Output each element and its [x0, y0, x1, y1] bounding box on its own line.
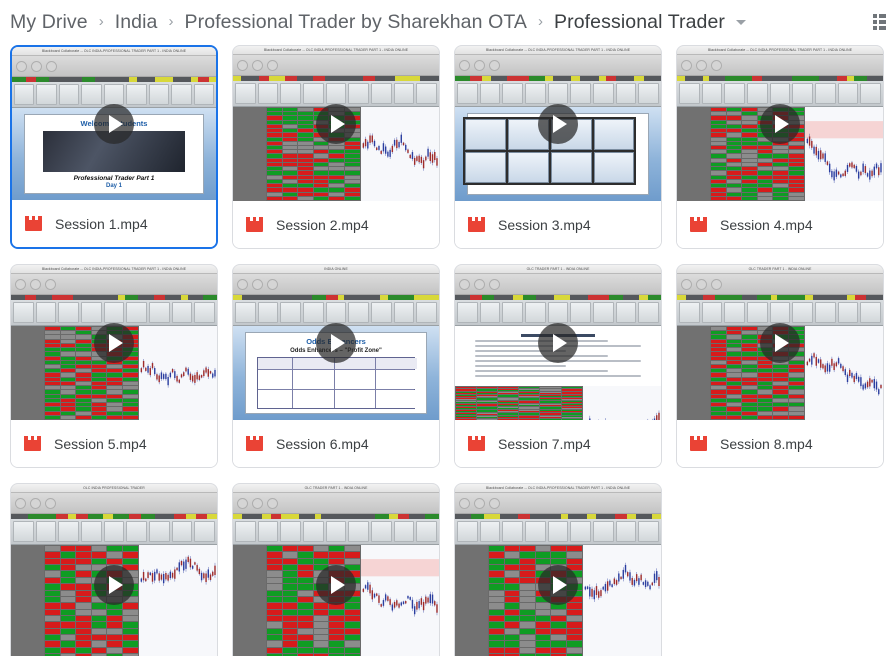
file-card-footer: Session 1.mp4	[12, 200, 216, 247]
thumbnail-toolbar	[677, 274, 883, 295]
thumbnail-toolbar	[455, 274, 661, 295]
file-thumbnail[interactable]: OLC TRADER PART 1 - INDIA ONLINE	[455, 265, 661, 420]
thumbnail-window-title: OLC INDIA PROFESSIONAL TRADER	[11, 484, 217, 493]
thumbnail-toolbar	[11, 274, 217, 295]
file-card[interactable]: INDIA ONLINEOdds EnhancersOdds Enhancers…	[232, 264, 440, 468]
chart-pane	[805, 107, 883, 201]
grid-view-icon[interactable]	[868, 11, 886, 33]
symbol-list-pane	[455, 545, 488, 656]
breadcrumb: My Drive›India›Professional Trader by Sh…	[10, 11, 886, 34]
thumbnail-toolbar	[455, 493, 661, 514]
breadcrumb-item[interactable]: Professional Trader	[554, 11, 725, 34]
file-thumbnail[interactable]: OLC TRADER PART 1 - INDIA ONLINE	[233, 484, 439, 656]
play-button[interactable]	[94, 565, 134, 605]
file-card[interactable]: Blackboard Collaborate -- OLC INDIA-PROF…	[10, 45, 218, 249]
symbol-list-pane	[233, 107, 266, 201]
file-card[interactable]: Blackboard Collaborate -- OLC INDIA-PROF…	[454, 45, 662, 249]
play-button[interactable]	[760, 104, 800, 144]
candlestick-chart	[583, 545, 661, 623]
file-name: Session 4.mp4	[720, 217, 813, 233]
file-name: Session 6.mp4	[276, 436, 369, 452]
odds-table	[257, 357, 415, 409]
slide-day: Day 1	[106, 183, 122, 189]
chart-pane	[805, 326, 883, 420]
file-card-footer: Session 7.mp4	[455, 420, 661, 467]
thumbnail-toolbar	[12, 56, 216, 77]
play-button[interactable]	[316, 104, 356, 144]
chart-pane	[583, 545, 661, 656]
file-card-footer: Session 5.mp4	[11, 420, 217, 467]
file-grid: Blackboard Collaborate -- OLC INDIA-PROF…	[0, 45, 886, 656]
thumbnail-toolbar	[233, 493, 439, 514]
video-file-icon	[690, 217, 707, 232]
play-button[interactable]	[316, 565, 356, 605]
candlestick-chart	[805, 107, 883, 185]
file-card-footer: Session 4.mp4	[677, 201, 883, 248]
play-button[interactable]	[538, 323, 578, 363]
file-card[interactable]: Blackboard Collaborate -- OLC INDIA-PROF…	[10, 264, 218, 468]
thumbnail-window-title: OLC TRADER PART 1 - INDIA ONLINE	[233, 484, 439, 493]
candlestick-chart	[361, 545, 439, 623]
file-card[interactable]: OLC TRADER PART 1 - INDIA ONLINESession …	[454, 264, 662, 468]
file-thumbnail[interactable]: Blackboard Collaborate -- OLC INDIA-PROF…	[12, 47, 216, 200]
symbol-list-pane	[233, 545, 266, 656]
thumbnail-window-title: OLC TRADER PART 1 - INDIA ONLINE	[455, 265, 661, 274]
breadcrumb-item[interactable]: My Drive	[10, 11, 88, 34]
thumbnail-window-title: Blackboard Collaborate -- OLC INDIA-PROF…	[233, 46, 439, 55]
file-thumbnail[interactable]: OLC INDIA PROFESSIONAL TRADER	[11, 484, 217, 656]
thumbnail-window-title: Blackboard Collaborate -- OLC INDIA-PROF…	[11, 265, 217, 274]
thumbnail-toolbar	[455, 55, 661, 76]
symbol-list-pane	[677, 107, 710, 201]
drive-header: My Drive›India›Professional Trader by Sh…	[0, 0, 886, 45]
file-name: Session 3.mp4	[498, 217, 591, 233]
file-thumbnail[interactable]: Blackboard Collaborate -- OLC INDIA-PROF…	[11, 265, 217, 420]
breadcrumb-separator: ›	[169, 14, 174, 29]
chart-pane	[139, 545, 217, 656]
thumbnail-toolbar	[233, 55, 439, 76]
market-data-grid	[455, 386, 583, 420]
file-thumbnail[interactable]: INDIA ONLINEOdds EnhancersOdds Enhancers…	[233, 265, 439, 420]
file-card[interactable]: Blackboard Collaborate -- OLC INDIA-PROF…	[232, 45, 440, 249]
candlestick-chart	[583, 386, 661, 420]
thumbnail-toolbar	[11, 493, 217, 514]
breadcrumb-separator: ›	[538, 14, 543, 29]
video-file-icon	[468, 217, 485, 232]
file-name: Session 1.mp4	[55, 216, 148, 232]
video-file-icon	[24, 436, 41, 451]
thumbnail-toolbar	[677, 55, 883, 76]
file-card[interactable]: OLC INDIA PROFESSIONAL TRADER	[10, 483, 218, 656]
file-name: Session 5.mp4	[54, 436, 147, 452]
video-file-icon	[468, 436, 485, 451]
breadcrumb-separator: ›	[99, 14, 104, 29]
chevron-down-icon[interactable]	[736, 20, 746, 25]
play-button[interactable]	[538, 104, 578, 144]
play-button[interactable]	[316, 323, 356, 363]
breadcrumb-item[interactable]: Professional Trader by Sharekhan OTA	[185, 11, 528, 34]
chart-pane	[361, 545, 439, 656]
video-file-icon	[246, 436, 263, 451]
thumbnail-ribbon	[11, 519, 217, 545]
candlestick-chart	[139, 326, 217, 404]
symbol-list-pane	[11, 545, 44, 656]
video-file-icon	[25, 216, 42, 231]
thumbnail-window-title: INDIA ONLINE	[233, 265, 439, 274]
chart-pane	[139, 326, 217, 420]
symbol-list-pane	[677, 326, 710, 420]
market-strip	[455, 386, 661, 420]
thumbnail-window-title: Blackboard Collaborate -- OLC INDIA-PROF…	[12, 47, 216, 56]
file-card[interactable]: Blackboard Collaborate -- OLC INDIA-PROF…	[676, 45, 884, 249]
video-file-icon	[246, 217, 263, 232]
file-card-footer: Session 3.mp4	[455, 201, 661, 248]
thumbnail-window-title: OLC TRADER PART 1 - INDIA ONLINE	[677, 265, 883, 274]
play-button[interactable]	[538, 565, 578, 605]
candlestick-chart	[361, 107, 439, 185]
file-thumbnail[interactable]: OLC TRADER PART 1 - INDIA ONLINE	[677, 265, 883, 420]
play-button[interactable]	[94, 104, 134, 144]
play-button[interactable]	[760, 323, 800, 363]
chart-pane	[361, 107, 439, 201]
file-card-footer: Session 6.mp4	[233, 420, 439, 467]
breadcrumb-item[interactable]: India	[115, 11, 158, 34]
file-card-footer: Session 2.mp4	[233, 201, 439, 248]
file-card[interactable]: OLC TRADER PART 1 - INDIA ONLINESession …	[676, 264, 884, 468]
file-card[interactable]: Blackboard Collaborate -- OLC INDIA-PROF…	[454, 483, 662, 656]
slide-caption: Professional Trader Part 1	[74, 175, 155, 182]
thumbnail-window-title: Blackboard Collaborate -- OLC INDIA-PROF…	[455, 46, 661, 55]
symbol-list-pane	[11, 326, 44, 420]
thumbnail-ribbon	[233, 519, 439, 545]
file-thumbnail[interactable]: Blackboard Collaborate -- OLC INDIA-PROF…	[455, 484, 661, 656]
file-card[interactable]: OLC TRADER PART 1 - INDIA ONLINE	[232, 483, 440, 656]
file-thumbnail[interactable]: Blackboard Collaborate -- OLC INDIA-PROF…	[233, 46, 439, 201]
thumbnail-window-title: Blackboard Collaborate -- OLC INDIA-PROF…	[455, 484, 661, 493]
thumbnail-ribbon	[455, 519, 661, 545]
file-thumbnail[interactable]: Blackboard Collaborate -- OLC INDIA-PROF…	[455, 46, 661, 201]
thumbnail-toolbar	[233, 274, 439, 295]
candlestick-chart	[139, 545, 217, 623]
video-file-icon	[690, 436, 707, 451]
grid-view-glyph	[873, 14, 886, 30]
play-button[interactable]	[94, 323, 134, 363]
file-name: Session 2.mp4	[276, 217, 369, 233]
file-name: Session 7.mp4	[498, 436, 591, 452]
thumbnail-window-title: Blackboard Collaborate -- OLC INDIA-PROF…	[677, 46, 883, 55]
file-card-footer: Session 8.mp4	[677, 420, 883, 467]
candlestick-chart	[805, 326, 883, 404]
file-thumbnail[interactable]: Blackboard Collaborate -- OLC INDIA-PROF…	[677, 46, 883, 201]
file-name: Session 8.mp4	[720, 436, 813, 452]
